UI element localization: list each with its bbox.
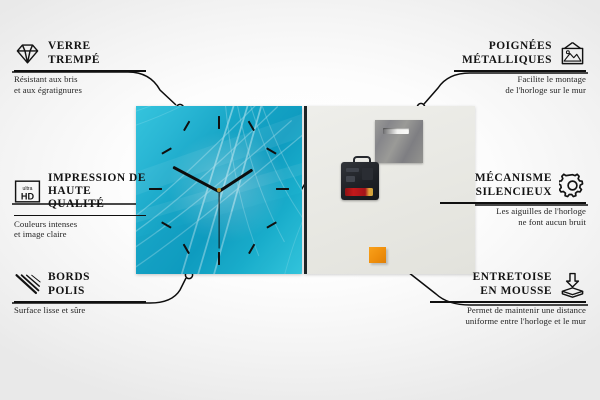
mechanism-battery xyxy=(345,188,373,196)
feature-title-2: MÉTALLIQUES xyxy=(462,54,552,67)
ultra-hd-icon: ultra HD xyxy=(14,178,41,205)
clock-center-pivot xyxy=(217,188,221,192)
feature-verre-trempe: VERRE TREMPÉ Résistant aux bris et aux é… xyxy=(14,40,146,95)
feature-bords-polis: BORDS POLIS Surface lisse et sûre xyxy=(14,271,146,316)
feature-title: ENTRETOISE xyxy=(473,271,552,284)
feature-divider xyxy=(14,70,146,72)
mechanism-detail-3 xyxy=(346,176,355,182)
feature-title-2: EN MOUSSE xyxy=(473,285,552,298)
feature-divider xyxy=(440,202,586,204)
clock-mechanism xyxy=(341,162,379,200)
feature-title-2: SILENCIEUX xyxy=(475,186,552,199)
feature-title: VERRE xyxy=(48,40,100,53)
feature-divider xyxy=(454,70,586,72)
clock-tick-6 xyxy=(218,252,220,265)
feature-title-2: HAUTE QUALITÉ xyxy=(48,185,146,211)
feature-divider xyxy=(14,215,146,217)
infographic-canvas: VERRE TREMPÉ Résistant aux bris et aux é… xyxy=(0,0,600,400)
gear-icon xyxy=(559,172,586,199)
feature-sub-2: et image claire xyxy=(14,229,146,239)
feature-title: POIGNÉES xyxy=(462,40,552,53)
feature-sub-1: Couleurs intenses xyxy=(14,219,146,229)
feature-sub-1: Surface lisse et sûre xyxy=(14,305,146,315)
hanger-plate xyxy=(375,120,423,163)
product-image xyxy=(136,106,472,274)
feature-title-2: POLIS xyxy=(48,285,90,298)
clock-tick-12 xyxy=(218,116,220,129)
feature-title: MÉCANISME xyxy=(475,172,552,185)
feature-impression-haute-qualite: ultra HD IMPRESSION DE HAUTE QUALITÉ Cou… xyxy=(14,172,146,240)
clock-front-panel xyxy=(136,106,302,274)
feature-sub-2: uniforme entre l'horloge et le mur xyxy=(430,316,586,326)
feature-title: IMPRESSION DE xyxy=(48,172,146,185)
diamond-icon xyxy=(14,40,41,67)
feature-mecanisme-silencieux: MÉCANISME SILENCIEUX Les aiguilles de l'… xyxy=(440,172,586,227)
hanger-plate-slot xyxy=(383,128,409,134)
clock-tick-9 xyxy=(149,188,162,190)
feature-sub-2: et aux égratignures xyxy=(14,85,146,95)
feature-entretoise-en-mousse: ENTRETOISE EN MOUSSE Permet de maintenir… xyxy=(430,271,586,326)
feature-sub-2: de l'horloge sur le mur xyxy=(454,85,586,95)
feature-sub-1: Permet de maintenir une distance xyxy=(430,305,586,315)
feature-divider xyxy=(14,301,146,303)
feature-divider xyxy=(430,301,586,303)
mechanism-detail-2 xyxy=(362,168,373,180)
feature-title: BORDS xyxy=(48,271,90,284)
wall-hanger-icon xyxy=(559,40,586,67)
svg-text:HD: HD xyxy=(21,192,35,202)
foam-spacer-part xyxy=(369,247,386,263)
polished-edges-icon xyxy=(14,271,41,298)
feature-sub-1: Facilite le montage xyxy=(454,74,586,84)
foam-spacer-icon xyxy=(559,271,586,298)
feature-poignees-metalliques: POIGNÉES MÉTALLIQUES Facilite le montage… xyxy=(454,40,586,95)
feature-title-2: TREMPÉ xyxy=(48,54,100,67)
clock-tick-3 xyxy=(276,188,289,190)
clock-second-hand xyxy=(218,191,219,249)
feature-sub-2: ne font aucun bruit xyxy=(440,217,586,227)
mechanism-detail-1 xyxy=(346,168,359,172)
feature-sub-1: Résistant aux bris xyxy=(14,74,146,84)
feature-sub-1: Les aiguilles de l'horloge xyxy=(440,206,586,216)
